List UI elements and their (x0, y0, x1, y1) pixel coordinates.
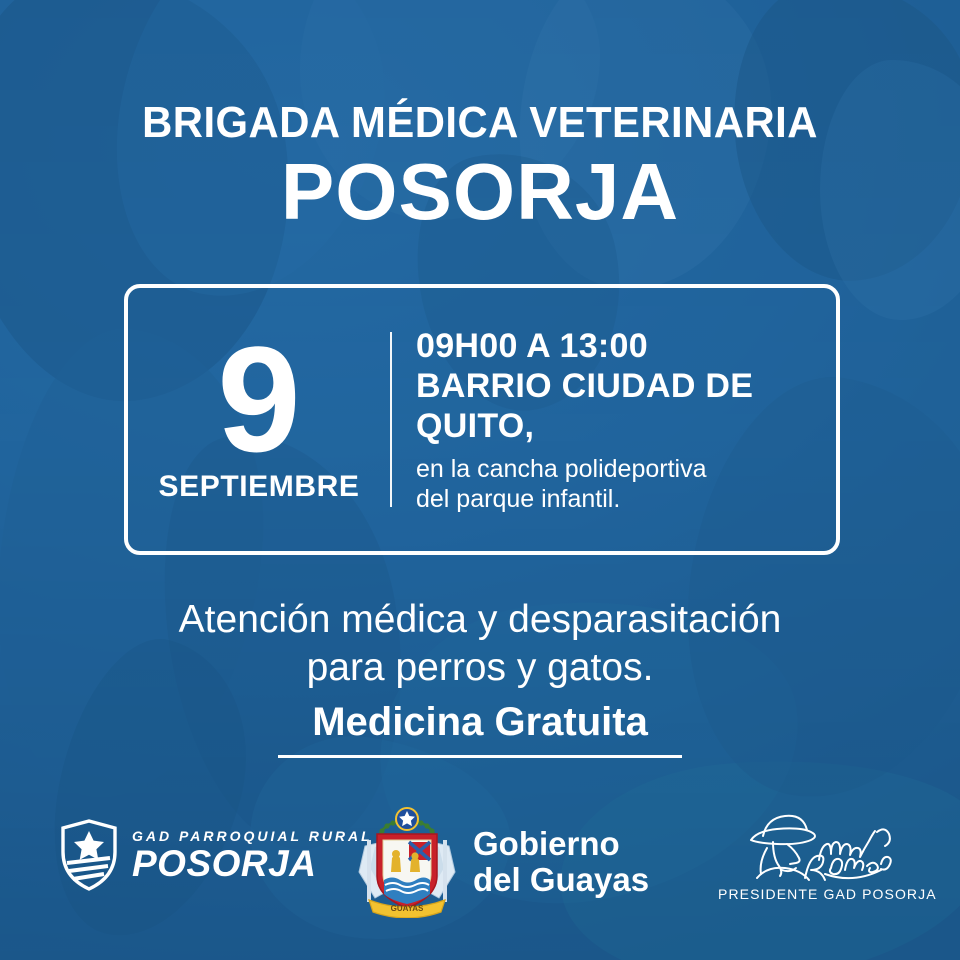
president-portrait-signature-icon (727, 808, 927, 884)
description-block: Atención médica y desparasitación para p… (0, 596, 960, 691)
headline-primary: BRIGADA MÉDICA VETERINARIA (24, 100, 936, 146)
free-medicine-label: Medicina Gratuita (312, 700, 648, 753)
posorja-logo-text: GAD PARROQUIAL RURAL POSORJA (132, 829, 373, 882)
event-details-box: 9 SEPTIEMBRE 09H00 A 13:00 BARRIO CIUDAD… (124, 284, 840, 555)
event-day: 9 (217, 330, 300, 468)
free-medicine-underline (278, 755, 682, 758)
guayas-crest-motto: GUAYAS (391, 904, 424, 913)
event-date-column: 9 SEPTIEMBRE (128, 288, 390, 551)
event-location-line-1: BARRIO CIUDAD DE (416, 366, 836, 406)
vertical-divider (390, 332, 392, 507)
free-medicine-block: Medicina Gratuita (0, 700, 960, 758)
president-caption: PRESIDENTE GAD POSORJA (718, 886, 937, 902)
description-line-1: Atención médica y desparasitación (0, 596, 960, 644)
description-line-2: para perros y gatos. (0, 644, 960, 692)
headline-place: POSORJA (0, 152, 960, 232)
event-location-line-2: QUITO, (416, 406, 836, 446)
posorja-subtitle: GAD PARROQUIAL RURAL (132, 829, 373, 843)
logo-president: PRESIDENTE GAD POSORJA (718, 808, 937, 902)
headline-block: BRIGADA MÉDICA VETERINARIA POSORJA (0, 100, 960, 232)
logo-gad-posorja: GAD PARROQUIAL RURAL POSORJA (58, 818, 373, 892)
poster-canvas: BRIGADA MÉDICA VETERINARIA POSORJA 9 SEP… (0, 0, 960, 960)
posorja-title: POSORJA (132, 845, 373, 882)
event-time: 09H00 A 13:00 (416, 326, 836, 366)
event-venue-line-2: del parque infantil. (416, 484, 836, 514)
guayas-coat-of-arms-icon: GUAYAS (355, 806, 459, 918)
guayas-line-2: del Guayas (473, 862, 649, 898)
event-info-column: 09H00 A 13:00 BARRIO CIUDAD DE QUITO, en… (392, 288, 836, 551)
event-month: SEPTIEMBRE (158, 470, 359, 504)
footer-logos: GAD PARROQUIAL RURAL POSORJA (0, 800, 960, 920)
guayas-line-1: Gobierno (473, 826, 649, 862)
logo-gobierno-guayas: GUAYAS Gobierno del Guayas (355, 806, 649, 918)
posorja-shield-icon (58, 818, 120, 892)
guayas-logo-text: Gobierno del Guayas (473, 826, 649, 899)
event-venue-line-1: en la cancha polideportiva (416, 454, 836, 484)
